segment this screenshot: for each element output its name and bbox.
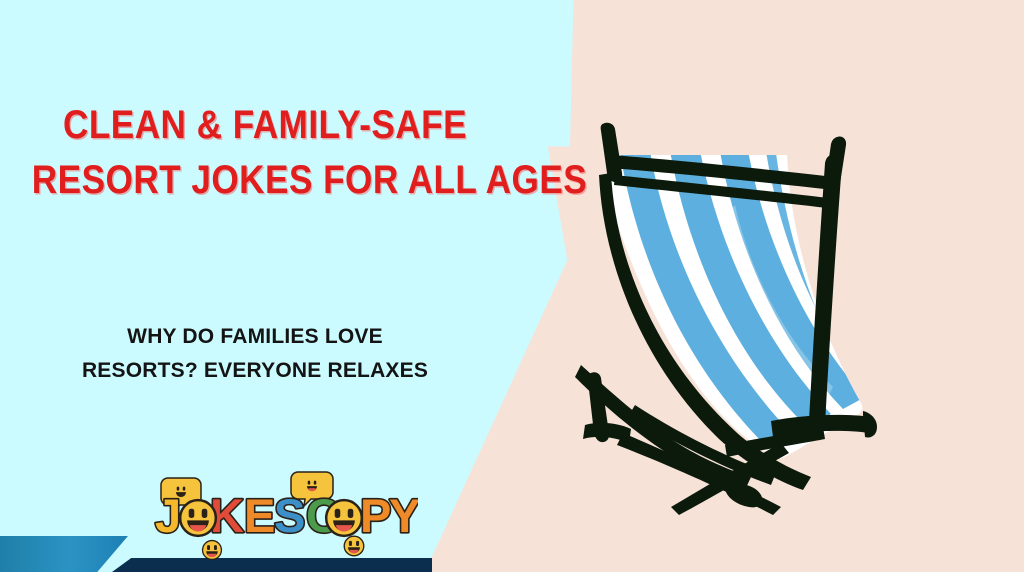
brand-logo[interactable]: J K E S C P Y <box>148 470 418 562</box>
logo-letter-o-smiley-2 <box>326 500 362 536</box>
logo-letter-o-smiley-1 <box>180 500 216 536</box>
logo-emoji-bottom-right <box>344 536 364 556</box>
headline-line-2: RESORT JOKES FOR ALL AGES <box>32 153 498 208</box>
poster-canvas: CLEAN & FAMILY-SAFE RESORT JOKES FOR ALL… <box>0 0 1024 572</box>
subtitle-line-2: RESORTS? EVERYONE RELAXES <box>0 354 510 388</box>
logo-letter-p: P <box>360 489 391 542</box>
page-title: CLEAN & FAMILY-SAFE RESORT JOKES FOR ALL… <box>32 98 498 208</box>
page-subtitle: WHY DO FAMILIES LOVE RESORTS? EVERYONE R… <box>0 320 510 388</box>
logo-letter-s: S <box>274 489 305 542</box>
subtitle-line-1: WHY DO FAMILIES LOVE <box>0 320 510 354</box>
headline-line-1: CLEAN & FAMILY-SAFE <box>32 98 498 153</box>
logo-emoji-bottom-left <box>203 541 222 560</box>
logo-letter-j: J <box>155 489 181 542</box>
deck-chair-illustration <box>575 115 975 515</box>
logo-letter-e: E <box>244 489 275 542</box>
logo-letter-y: Y <box>389 489 418 542</box>
